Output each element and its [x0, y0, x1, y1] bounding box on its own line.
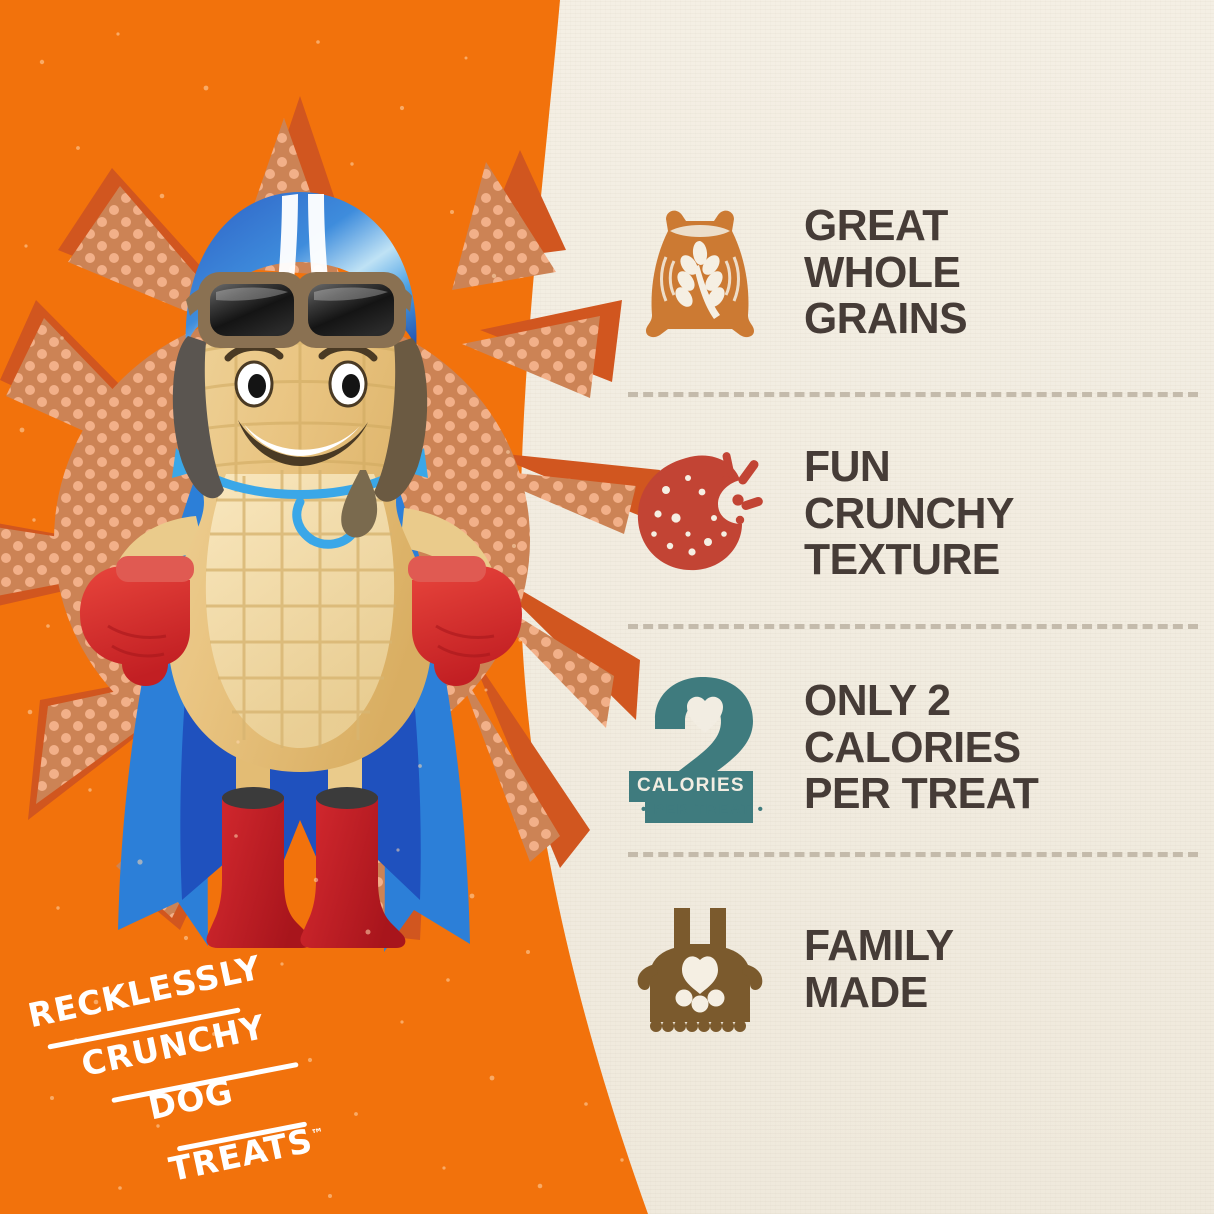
feature-divider-3	[628, 852, 1198, 857]
feature-divider-1	[628, 392, 1198, 397]
feature-label-crunchy-texture: FUN CRUNCHY TEXTURE	[804, 444, 1014, 584]
feature-item-family-made: FAMILY MADE	[620, 880, 1214, 1060]
feature-label-family-made: FAMILY MADE	[804, 923, 954, 1016]
apron-paw-heart-icon	[620, 902, 780, 1038]
feature-item-whole-grains: GREAT WHOLE GRAINS	[620, 168, 1214, 378]
feature-item-two-calories: CALORIES • PER TREAT • ONLY 2 CALORIES P…	[620, 648, 1214, 848]
grain-sack-icon	[620, 205, 780, 341]
feature-list: GREAT WHOLE GRAINS	[620, 168, 1214, 1058]
feature-item-crunchy-texture: FUN CRUNCHY TEXTURE	[620, 414, 1214, 614]
product-feature-graphic: GREAT WHOLE GRAINS	[0, 0, 1214, 1214]
two-calories-badge-icon: CALORIES • PER TREAT •	[620, 673, 780, 823]
calories-ribbon-label: CALORIES	[629, 771, 753, 802]
mascot-panel	[0, 0, 720, 1214]
per-treat-sub-label: • PER TREAT •	[641, 801, 765, 818]
mascot-goggles	[186, 272, 412, 348]
feature-divider-2	[628, 624, 1198, 629]
feature-label-whole-grains: GREAT WHOLE GRAINS	[804, 203, 967, 343]
feature-label-two-calories: ONLY 2 CALORIES PER TREAT	[804, 678, 1038, 818]
bitten-cookie-icon	[620, 446, 780, 582]
mascot-body	[168, 306, 432, 772]
